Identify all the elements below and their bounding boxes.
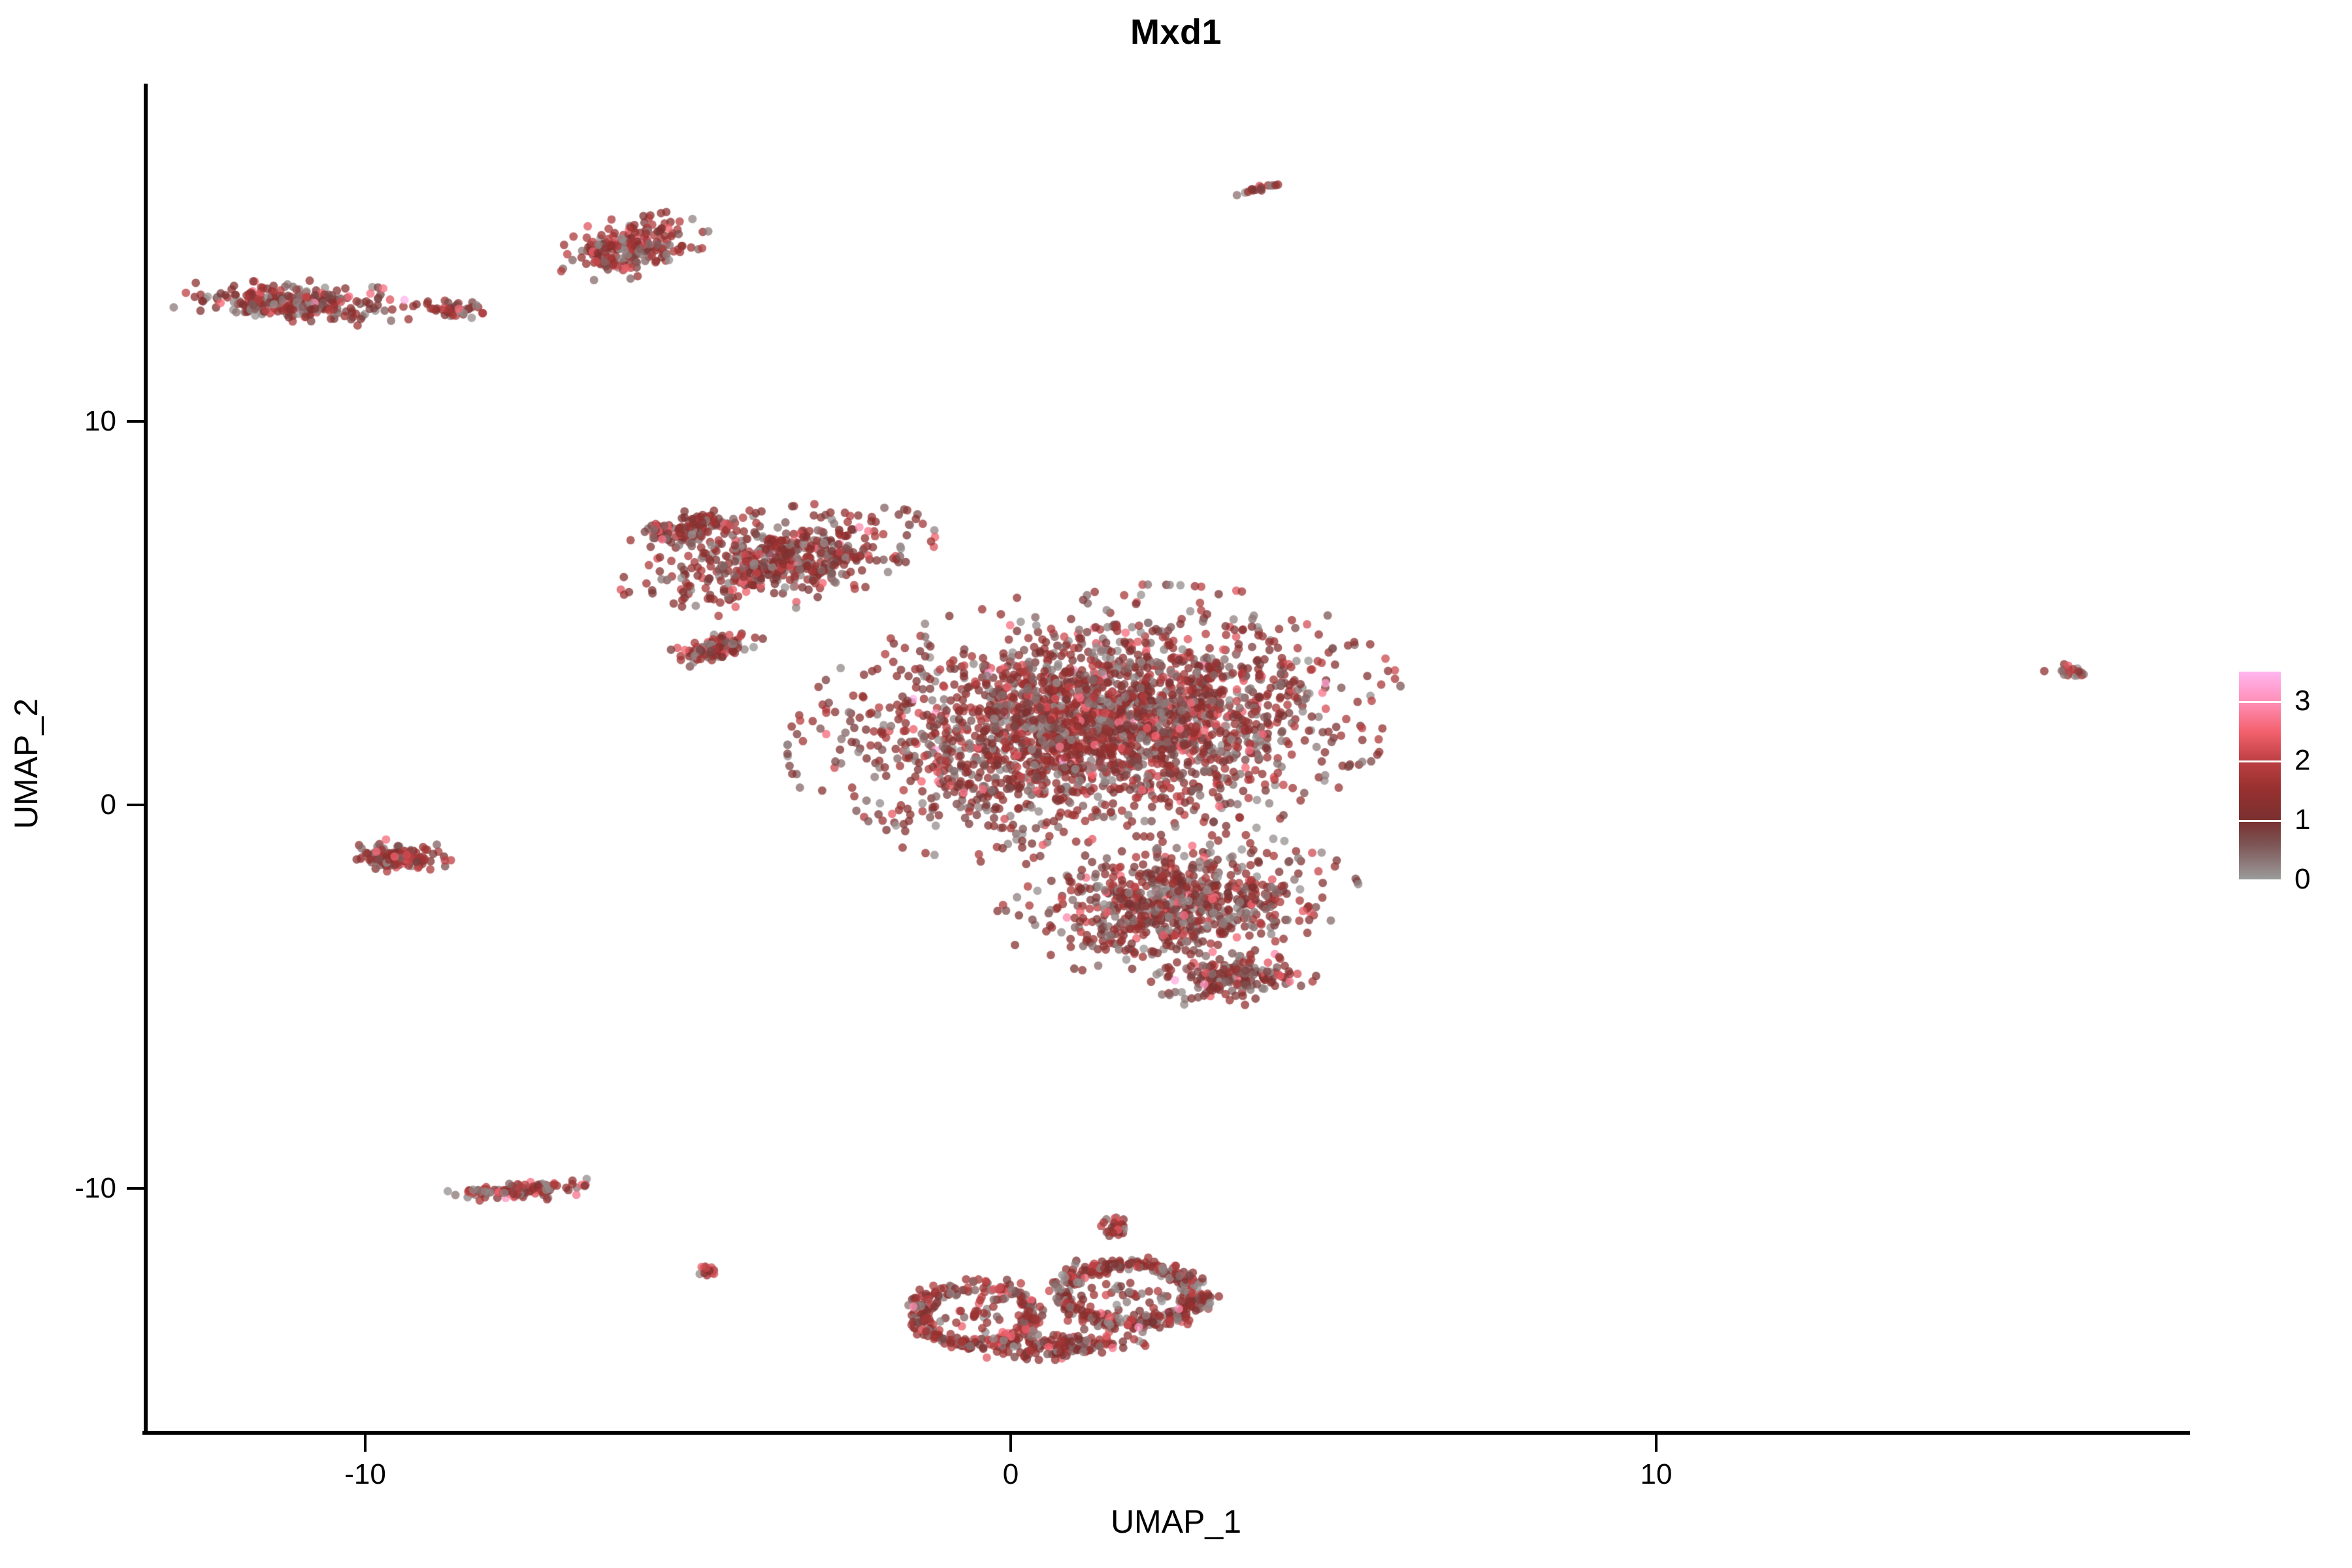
x-tick-label: 0 bbox=[1003, 1458, 1019, 1491]
x-axis-line bbox=[142, 1431, 2190, 1435]
y-tick-mark bbox=[127, 1187, 144, 1190]
y-axis-title: UMAP_2 bbox=[7, 568, 45, 960]
y-tick-mark bbox=[127, 804, 144, 806]
page-title: Mxd1 bbox=[0, 12, 2352, 52]
scatter-points-layer[interactable] bbox=[144, 85, 2189, 1431]
colorbar-tick-label: 1 bbox=[2295, 804, 2310, 836]
y-tick-mark bbox=[127, 420, 144, 423]
y-tick-label: 10 bbox=[0, 405, 116, 438]
y-axis-line bbox=[144, 84, 148, 1435]
x-tick-label: 10 bbox=[1641, 1458, 1673, 1491]
colorbar-tick-mark bbox=[2239, 701, 2281, 703]
y-tick-label: -10 bbox=[0, 1172, 116, 1205]
colorbar-tick-mark bbox=[2239, 760, 2281, 762]
colorbar-tick-mark bbox=[2239, 820, 2281, 822]
colorbar-tick-label: 0 bbox=[2295, 863, 2310, 896]
x-tick-mark bbox=[1009, 1435, 1012, 1452]
x-axis-title: UMAP_1 bbox=[0, 1503, 2352, 1541]
umap-feature-plot: Mxd1 -10010 -10010 UMAP_1 UMAP_2 3210 bbox=[0, 0, 2352, 1568]
x-tick-label: -10 bbox=[344, 1458, 386, 1491]
x-tick-mark bbox=[1655, 1435, 1658, 1452]
colorbar-tick-label: 3 bbox=[2295, 685, 2310, 717]
plot-panel[interactable] bbox=[144, 85, 2189, 1431]
colorbar-legend[interactable]: 3210 bbox=[2234, 666, 2345, 889]
x-tick-mark bbox=[364, 1435, 367, 1452]
colorbar-tick-label: 2 bbox=[2295, 744, 2310, 777]
colorbar-tick-mark bbox=[2239, 879, 2281, 881]
